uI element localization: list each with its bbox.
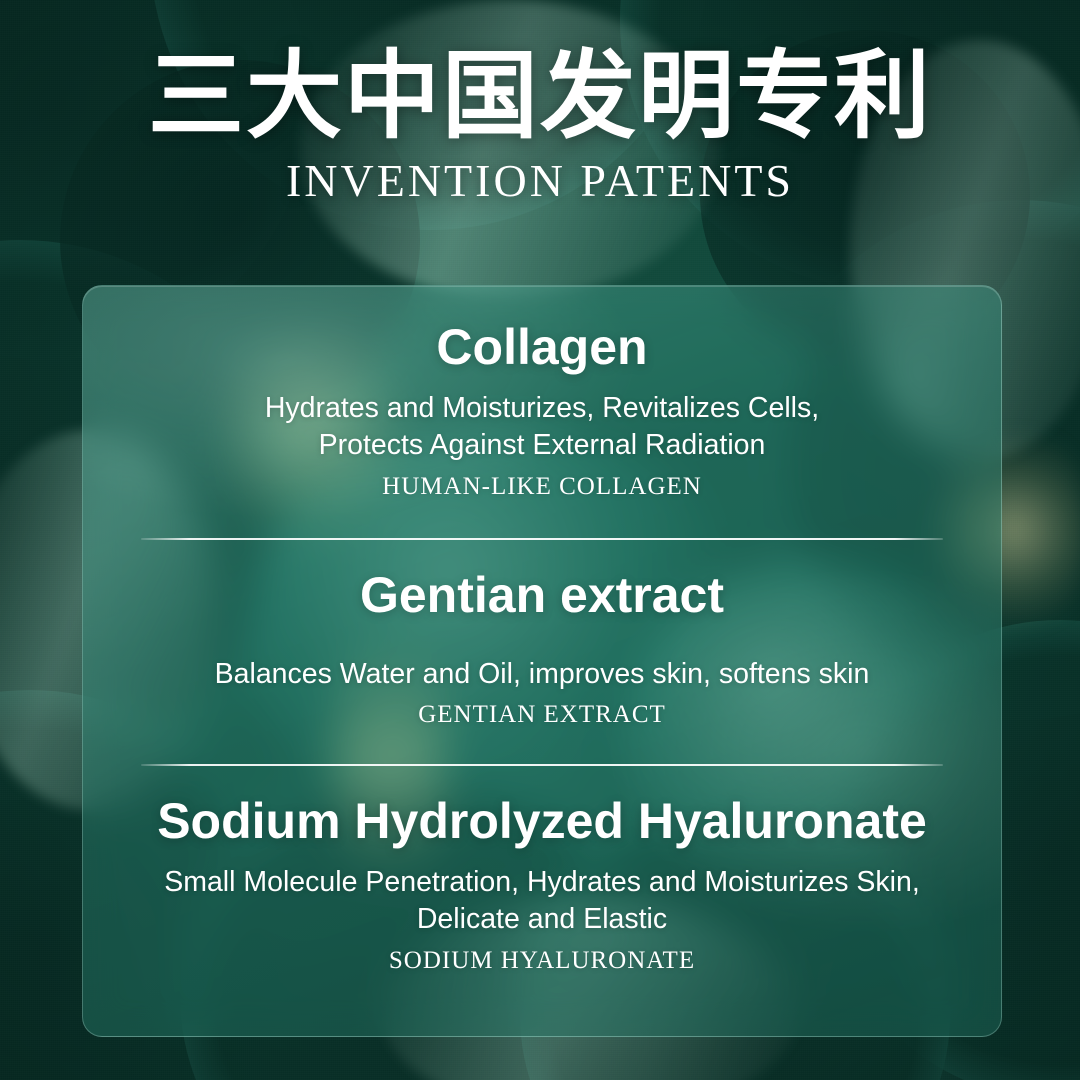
ingredient-latin-name: HUMAN-LIKE COLLAGEN (123, 472, 961, 502)
ingredient-title: Sodium Hydrolyzed Hyaluronate (123, 792, 961, 851)
page-subtitle-english: INVENTION PATENTS (0, 156, 1080, 207)
ingredient-section-collagen: Collagen Hydrates and Moisturizes, Revit… (83, 286, 1001, 502)
page-title-chinese: 三大中国发明专利 (0, 48, 1080, 146)
ingredient-description-line-1: Small Molecule Penetration, Hydrates and… (123, 865, 961, 900)
ingredient-description-line-2: Delicate and Elastic (123, 902, 961, 937)
ingredient-description-line-2: Protects Against External Radiation (123, 428, 961, 463)
ingredient-description-line-1: Balances Water and Oil, improves skin, s… (123, 657, 961, 692)
product-poster: 三大中国发明专利 INVENTION PATENTS Collagen Hydr… (0, 0, 1080, 1080)
ingredient-section-sodium-hydrolyzed-hyaluronate: Sodium Hydrolyzed Hyaluronate Small Mole… (83, 766, 1001, 976)
ingredient-title: Gentian extract (123, 566, 961, 625)
ingredient-section-gentian-extract: Gentian extract Balances Water and Oil, … (83, 540, 1001, 731)
ingredients-card: Collagen Hydrates and Moisturizes, Revit… (82, 285, 1002, 1037)
ingredient-latin-name: SODIUM HYALURONATE (123, 946, 961, 976)
ingredient-description-line-1: Hydrates and Moisturizes, Revitalizes Ce… (123, 391, 961, 426)
ingredient-title: Collagen (123, 318, 961, 377)
ingredient-latin-name: GENTIAN EXTRACT (123, 700, 961, 730)
poster-header: 三大中国发明专利 INVENTION PATENTS (0, 48, 1080, 207)
